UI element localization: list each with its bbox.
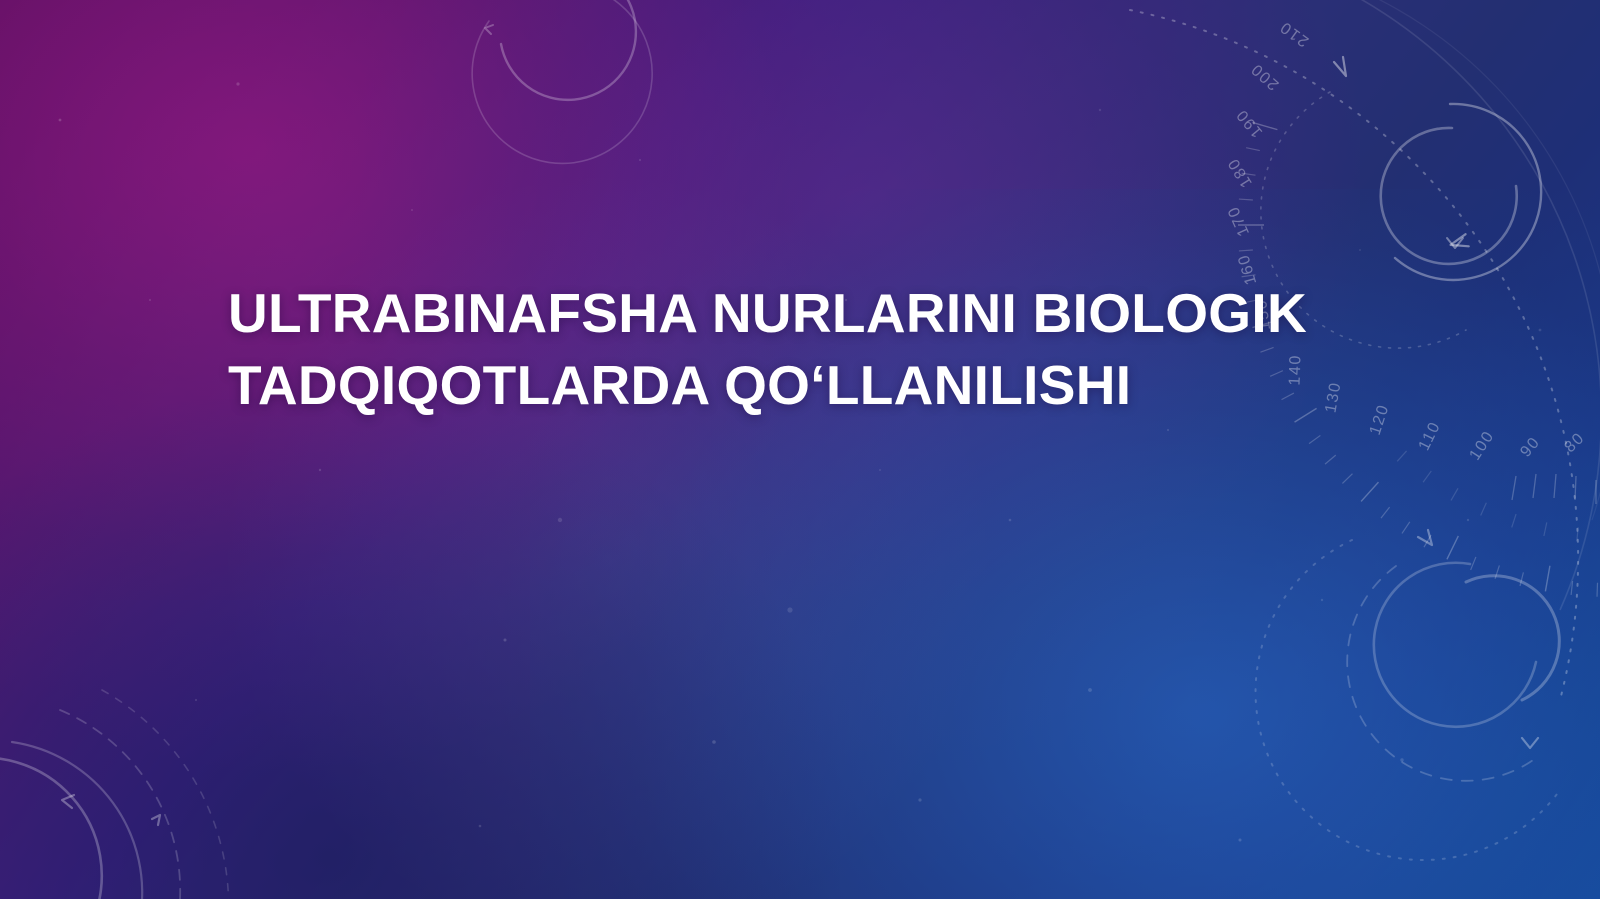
slide-title-line-2: TADQIQOTLARDA QO‘LLANILISHI	[228, 349, 1408, 421]
slide-title: ULTRABINAFSHA NURLARINI BIOLOGIK TADQIQO…	[228, 277, 1408, 421]
background-nebula-texture	[0, 0, 1600, 899]
slide-title-line-1: ULTRABINAFSHA NURLARINI BIOLOGIK	[228, 277, 1408, 349]
presentation-slide: 210 200 190 180 170 160 150 140 130 120 …	[0, 0, 1600, 899]
